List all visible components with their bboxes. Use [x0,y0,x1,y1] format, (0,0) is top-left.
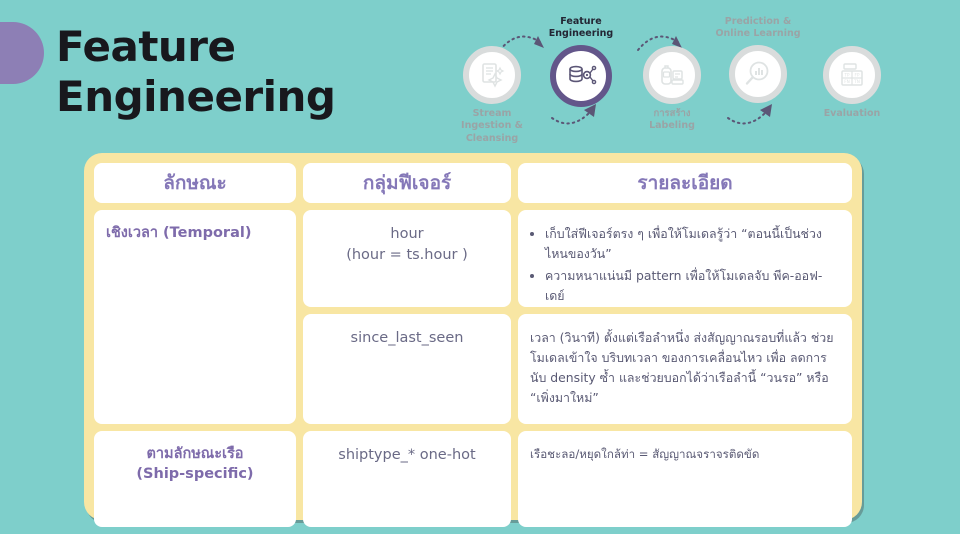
flow-step-prediction-online-learning[interactable]: Prediction & Online Learning [712,16,804,103]
feature-table: ลักษณะ กลุ่มฟีเจอร์ รายละเอียด เชิงเวลา … [94,163,852,510]
svg-text:TP: TP [843,73,850,78]
detail-bullet: เก็บใส่ฟีเจอร์ตรง ๆ เพื่อให้โมเดลรู้ว่า … [545,224,840,264]
decorative-blob [0,22,44,84]
feature-name: shiptype_* one-hot [315,445,499,466]
feature-name: hour [315,224,499,245]
feature-name: since_last_seen [315,328,499,349]
table-row-characteristic-temporal: เชิงเวลา (Temporal) [94,210,296,424]
flow-step-label: การสร้าง Labeling [626,108,718,133]
labeling-machine-icon [643,46,701,104]
flow-step-labeling[interactable]: การสร้าง Labeling [626,46,718,133]
table-cell-feature-hour: hour (hour = ts.hour ) [303,210,511,307]
table-cell-detail-hour: เก็บใส่ฟีเจอร์ตรง ๆ เพื่อให้โมเดลรู้ว่า … [518,210,852,307]
feature-formula: (hour = ts.hour ) [315,245,499,266]
flow-step-label: Feature Engineering [535,16,627,41]
table-cell-detail-since-last-seen: เวลา (วินาที) ตั้งแต่เรือลำหนึ่ง ส่งสัญญ… [518,314,852,424]
detail-bullet: ความหนาแน่นมี pattern เพื่อให้โมเดลจับ พ… [545,266,840,306]
svg-text:FP: FP [855,73,860,78]
characteristic-line-2: (Ship-specific) [106,465,284,485]
flow-step-label: Stream Ingestion & Cleansing [446,108,538,145]
document-sparkle-icon [463,46,521,104]
table-header-characteristic: ลักษณะ [94,163,296,203]
pipeline-flow: Stream Ingestion & Cleansing Feature Eng… [440,8,955,144]
table-cell-feature-shiptype: shiptype_* one-hot [303,431,511,527]
table-header-feature-group: กลุ่มฟีเจอร์ [303,163,511,203]
svg-text:TN: TN [853,79,860,84]
confusion-matrix-icon: TP FP FN TN [823,46,881,104]
table-cell-detail-shiptype: เรือชะลอ/หยุดใกล้ท่า = สัญญาณจราจรติดขัด [518,431,852,527]
page-title: Feature Engineering [56,22,436,121]
table-row-characteristic-ship-specific: ตามลักษณะเรือ (Ship-specific) [94,431,296,527]
characteristic-line-1: ตามลักษณะเรือ [106,445,284,465]
flow-step-label: Prediction & Online Learning [712,16,804,41]
database-gear-icon [550,45,612,107]
page-title-line-2: Engineering [56,72,436,122]
table-cell-feature-since-last-seen: since_last_seen [303,314,511,424]
magnifier-chart-icon [729,45,787,103]
svg-text:FN: FN [844,79,850,84]
flow-step-label: Evaluation [806,108,898,120]
flow-arrow-4-icon [726,102,776,132]
flow-step-stream-ingestion[interactable]: Stream Ingestion & Cleansing [446,46,538,145]
table-header-details: รายละเอียด [518,163,852,203]
page-title-line-1: Feature [56,22,436,72]
feature-table-card: ลักษณะ กลุ่มฟีเจอร์ รายละเอียด เชิงเวลา … [84,153,862,520]
flow-step-feature-engineering[interactable]: Feature Engineering [535,16,627,107]
flow-step-evaluation[interactable]: TP FP FN TN Evaluation [806,46,898,120]
